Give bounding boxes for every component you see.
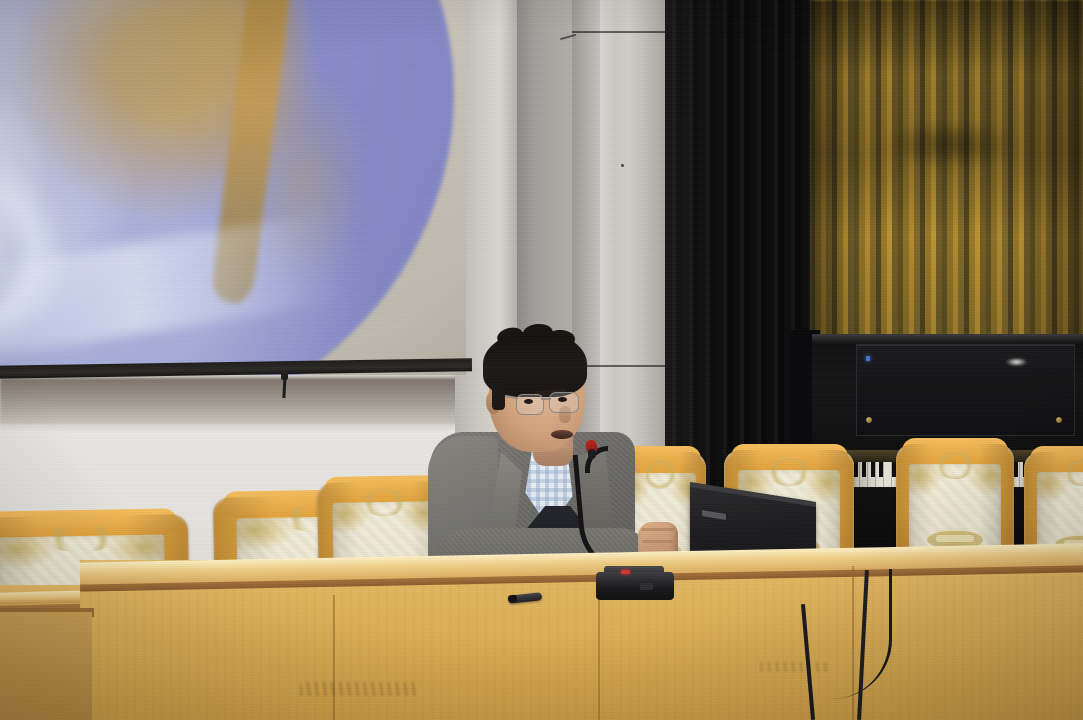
desk-panel-seam-1 — [333, 595, 335, 720]
desk-scuff-mark-left — [300, 682, 420, 696]
microphone-talk-button — [640, 583, 653, 590]
gold-curtain-shading — [810, 0, 1083, 336]
speaker-nose — [559, 406, 571, 423]
column-panel-seam-upper — [572, 31, 667, 33]
projection-screen — [0, 0, 466, 375]
screen-vignette — [0, 0, 466, 375]
photograph-lecture-hall: A man in a grey tweed blazer speaks into… — [0, 0, 1083, 720]
piano-screw-right — [1056, 417, 1062, 423]
piano-fallboard-panel — [856, 344, 1075, 436]
speaker-eye-right — [558, 397, 567, 402]
wall-shadow-band — [0, 378, 470, 430]
desk-left-end-panel — [0, 612, 92, 720]
fist-knuckle-line-1 — [641, 528, 674, 531]
piano-top-rail — [812, 334, 1083, 343]
piano-screw-left — [866, 417, 872, 423]
speaker-chin — [540, 438, 578, 454]
eyeglass-bridge — [541, 398, 551, 400]
gold-curtain-shadow-patch — [880, 120, 1020, 168]
eyeglass-lens-left — [516, 394, 544, 415]
piano-specular-highlight — [1006, 358, 1027, 366]
column-blemish — [621, 164, 624, 167]
piano-indicator-led — [866, 356, 870, 361]
speaker-eye-left — [524, 399, 533, 404]
fist-knuckle-line-2 — [642, 540, 673, 543]
microphone-capsule — [588, 449, 596, 459]
laser-pointer-cap — [508, 595, 518, 603]
speaker-sideburn — [492, 382, 505, 410]
microphone-base — [596, 572, 674, 600]
microphone-power-led — [621, 570, 630, 574]
